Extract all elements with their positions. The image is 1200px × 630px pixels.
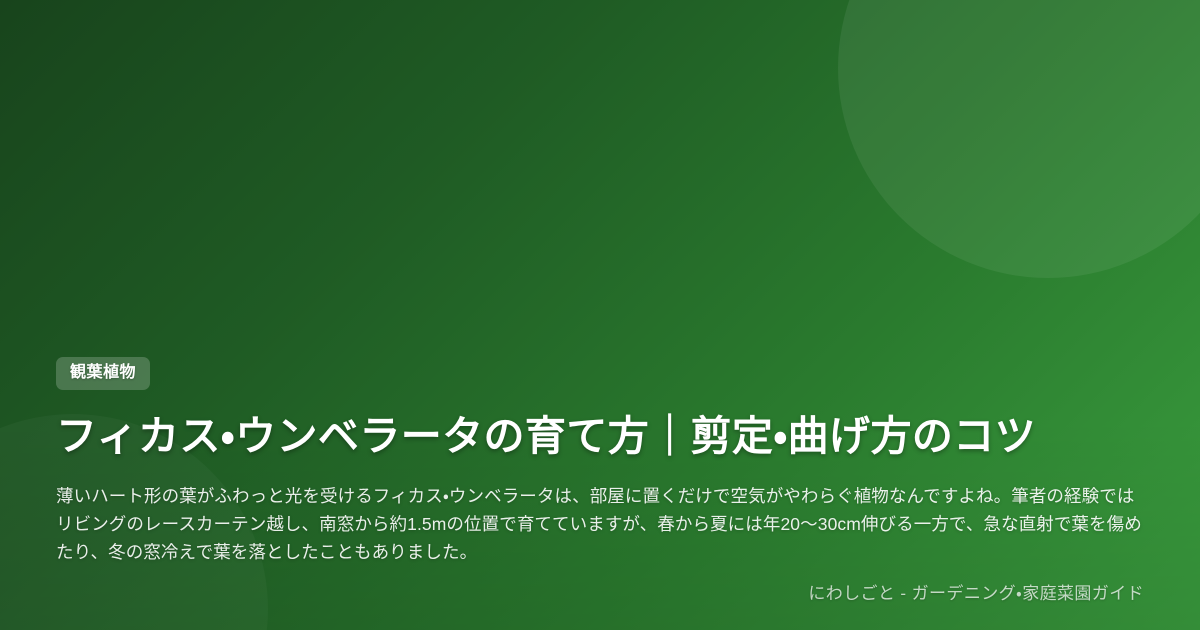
site-name-footer: にわしごと - ガーデニング・家庭菜園ガイド — [56, 584, 1144, 604]
card-content: 観葉植物 フィカス・ウンベラータの育て方｜剪定・曲げ方のコツ 薄いハート形の葉が… — [56, 0, 1144, 630]
page-title: フィカス・ウンベラータの育て方｜剪定・曲げ方のコツ — [56, 412, 1144, 461]
og-card: 観葉植物 フィカス・ウンベラータの育て方｜剪定・曲げ方のコツ 薄いハート形の葉が… — [0, 0, 1200, 630]
page-description: 薄いハート形の葉がふわっと光を受けるフィカス・ウンベラータは、部屋に置くだけで空… — [56, 482, 1144, 566]
category-badge: 観葉植物 — [56, 357, 150, 390]
